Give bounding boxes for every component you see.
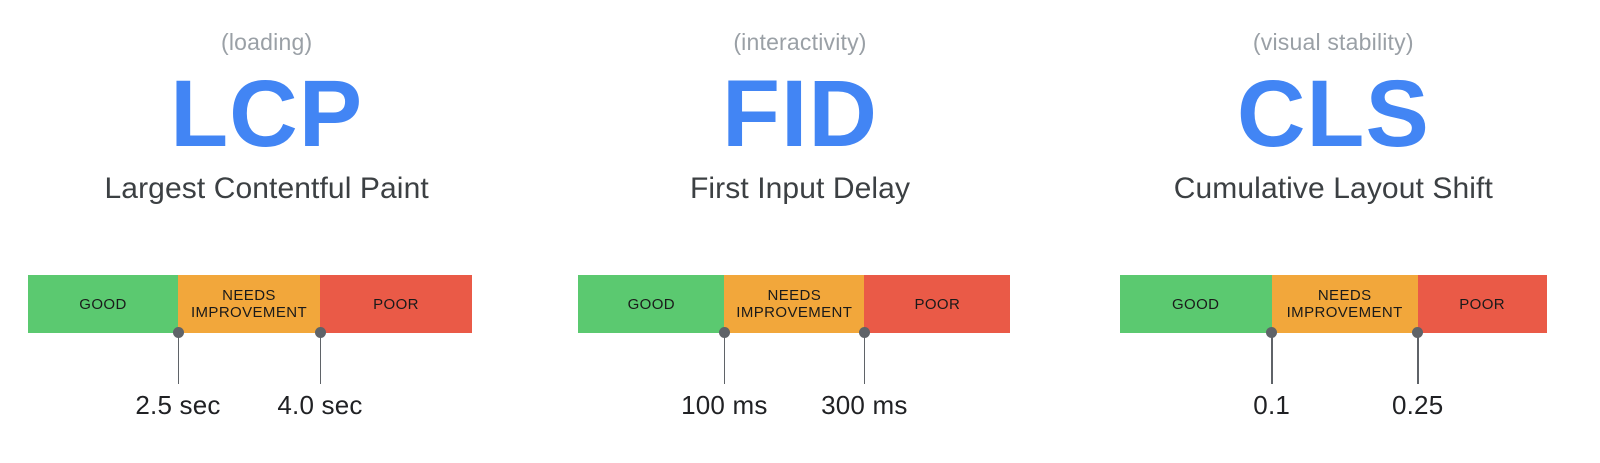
threshold-label: 300 ms [821, 389, 907, 421]
segment-good: GOOD [578, 275, 724, 333]
threshold-stem [1271, 332, 1273, 384]
metric-acronym: LCP [0, 65, 533, 163]
panel-header: (interactivity) FID First Input Delay [533, 27, 1066, 207]
threshold-stem [1417, 332, 1419, 384]
threshold-bar: GOOD NEEDS IMPROVEMENT POOR [1120, 275, 1547, 333]
metric-panel-cls: (visual stability) CLS Cumulative Layout… [1067, 0, 1600, 463]
threshold-stem [864, 332, 866, 384]
threshold-label: 0.25 [1392, 389, 1443, 421]
metric-acronym: CLS [1067, 65, 1600, 163]
threshold-stem [320, 332, 322, 384]
metric-category-label: (visual stability) [1067, 27, 1600, 57]
segment-needs-improvement: NEEDS IMPROVEMENT [1272, 275, 1418, 333]
threshold-bar: GOOD NEEDS IMPROVEMENT POOR [28, 275, 472, 333]
panel-header: (loading) LCP Largest Contentful Paint [0, 27, 533, 207]
segment-good: GOOD [28, 275, 178, 333]
threshold-label: 100 ms [681, 389, 767, 421]
segment-needs-improvement: NEEDS IMPROVEMENT [178, 275, 320, 333]
metric-fullname: First Input Delay [533, 171, 1066, 207]
metric-fullname: Cumulative Layout Shift [1067, 171, 1600, 207]
threshold-bar-wrapper: GOOD NEEDS IMPROVEMENT POOR 100 ms 300 m… [533, 275, 1066, 463]
metric-category-label: (loading) [0, 27, 533, 57]
metric-panel-fid: (interactivity) FID First Input Delay GO… [533, 0, 1066, 463]
threshold-bar: GOOD NEEDS IMPROVEMENT POOR [578, 275, 1010, 333]
metric-category-label: (interactivity) [533, 27, 1066, 57]
segment-poor: POOR [1418, 275, 1547, 333]
metric-fullname: Largest Contentful Paint [0, 171, 533, 207]
metric-acronym: FID [533, 65, 1066, 163]
panel-header: (visual stability) CLS Cumulative Layout… [1067, 27, 1600, 207]
core-web-vitals-diagram: (loading) LCP Largest Contentful Paint G… [0, 0, 1600, 463]
threshold-label: 2.5 sec [135, 389, 220, 421]
threshold-bar-wrapper: GOOD NEEDS IMPROVEMENT POOR 2.5 sec 4.0 … [0, 275, 533, 463]
threshold-stem [178, 332, 180, 384]
segment-needs-improvement: NEEDS IMPROVEMENT [724, 275, 864, 333]
segment-poor: POOR [864, 275, 1010, 333]
segment-poor: POOR [320, 275, 472, 333]
threshold-stem [724, 332, 726, 384]
threshold-bar-wrapper: GOOD NEEDS IMPROVEMENT POOR 0.1 0.25 [1067, 275, 1600, 463]
segment-good: GOOD [1120, 275, 1272, 333]
threshold-label: 4.0 sec [277, 389, 362, 421]
threshold-label: 0.1 [1253, 389, 1290, 421]
metric-panel-lcp: (loading) LCP Largest Contentful Paint G… [0, 0, 533, 463]
